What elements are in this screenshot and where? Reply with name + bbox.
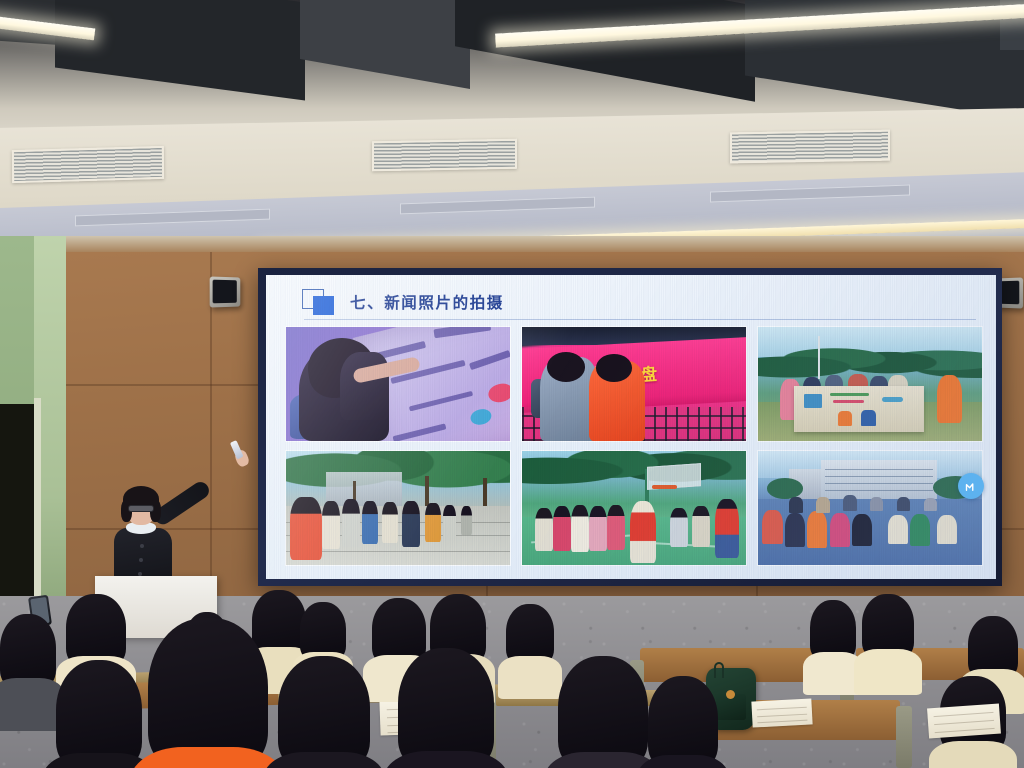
- slide-photo-1[interactable]: [286, 327, 510, 441]
- ceiling-panel: [455, 0, 755, 102]
- speaker-left: [210, 276, 241, 307]
- photo-grid: 光盘 拒绝浪费: [286, 327, 982, 565]
- student-foreground: [558, 656, 648, 768]
- student: [506, 604, 554, 664]
- lecture-hall-scene: 七、新闻照片的拍摄: [0, 0, 1024, 768]
- notebook: [927, 704, 1001, 739]
- presenter-raised-arm: [151, 479, 212, 528]
- desk-leg: [896, 706, 912, 768]
- student: [66, 594, 126, 666]
- student-foreground: [56, 660, 142, 768]
- presentation-slide: 七、新闻照片的拍摄: [266, 275, 996, 579]
- slide-photo-2[interactable]: 光盘 拒绝浪费: [522, 327, 746, 441]
- notebook: [751, 698, 812, 727]
- overlapping-squares-icon: [302, 289, 336, 315]
- slide-photo-6[interactable]: [758, 451, 982, 565]
- wall-cornice: [66, 236, 1024, 252]
- slide-photo-4[interactable]: [286, 451, 510, 565]
- annotation-pen-icon[interactable]: [958, 473, 984, 499]
- student: [862, 594, 914, 658]
- student: [810, 600, 856, 660]
- title-divider: [304, 319, 976, 320]
- student: [968, 616, 1018, 678]
- student-foreground: [648, 676, 718, 768]
- hvac-vent: [372, 139, 517, 172]
- doorway: [0, 404, 36, 610]
- hvac-vent: [730, 130, 890, 164]
- presenter-glasses: [128, 505, 154, 512]
- ceiling-panel: [300, 0, 470, 89]
- student: [0, 614, 56, 688]
- student-foreground: [278, 656, 370, 768]
- door-frame: [34, 398, 41, 610]
- student-foreground: [398, 648, 494, 768]
- slide-photo-5[interactable]: [522, 451, 746, 565]
- wall-seam: [66, 384, 276, 386]
- ceiling-panel: [55, 0, 305, 100]
- slide-photo-3[interactable]: [758, 327, 982, 441]
- hvac-vent: [12, 146, 164, 183]
- slide-surface[interactable]: 七、新闻照片的拍摄: [266, 275, 996, 579]
- student: [300, 602, 346, 660]
- student-foreground: [148, 618, 268, 768]
- slide-title: 七、新闻照片的拍摄: [350, 291, 504, 313]
- led-presentation-screen[interactable]: 七、新闻照片的拍摄: [258, 268, 1002, 586]
- slide-header: 七、新闻照片的拍摄: [280, 285, 982, 319]
